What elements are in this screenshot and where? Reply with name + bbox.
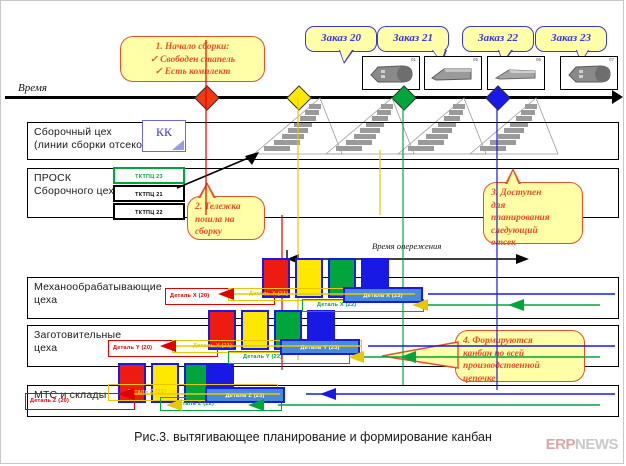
kanban-arrows-x: [160, 283, 620, 311]
figure-caption: Рис.3. вытягивающее планирование и форми…: [0, 430, 626, 444]
kanban-arrows-y: [100, 335, 620, 363]
watermark-news: NEWS: [575, 436, 618, 453]
kanban-arrows-z: [20, 383, 620, 411]
watermark: ERPNEWS: [546, 436, 618, 453]
watermark-erp: ERP: [546, 436, 575, 453]
